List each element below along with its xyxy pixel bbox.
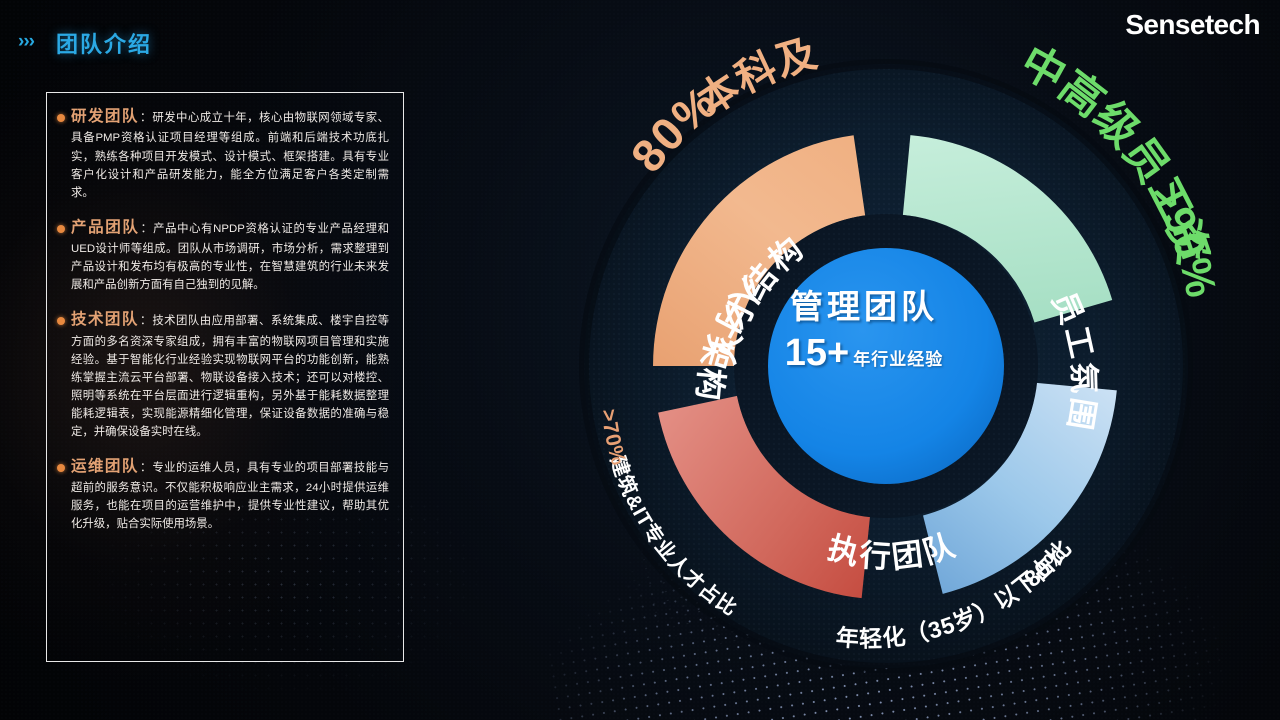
page-title: 团队介绍 bbox=[56, 27, 152, 59]
list-item-heading: 研发团队 bbox=[71, 108, 139, 125]
list-item: 研发团队：研发中心成立十年，核心由物联网领域专家、具备PMP资格认证项目经理等组… bbox=[57, 105, 389, 202]
bullet-dot-icon bbox=[57, 114, 65, 122]
brand-logo: Sensetech bbox=[1125, 9, 1260, 41]
team-donut-chart: 人才结构 员工氛围 执行团队 人才架构 80% 本科及以上 中高级员工资 >90… bbox=[508, 28, 1268, 708]
list-item-body: 研发团队：研发中心成立十年，核心由物联网领域专家、具备PMP资格认证项目经理等组… bbox=[71, 105, 389, 202]
list-item-body: 运维团队：专业的运维人员，具有专业的项目部署技能与超前的服务意识。不仅能积极响应… bbox=[71, 455, 389, 534]
list-item-heading: 产品团队 bbox=[71, 219, 140, 236]
list-item: 运维团队：专业的运维人员，具有专业的项目部署技能与超前的服务意识。不仅能积极响应… bbox=[57, 455, 389, 534]
list-item-separator: ： bbox=[140, 313, 152, 327]
list-item: 技术团队：技术团队由应用部署、系统集成、楼宇自控等方面的多名资深专家组成，拥有丰… bbox=[57, 308, 389, 441]
bullet-dot-icon bbox=[57, 225, 65, 233]
bullet-dot-icon bbox=[57, 317, 65, 325]
list-item-separator: ： bbox=[141, 221, 154, 235]
list-item-heading: 运维团队 bbox=[71, 458, 139, 475]
donut-center-circle[interactable] bbox=[768, 248, 1004, 484]
list-item-separator: ： bbox=[140, 460, 152, 474]
chevron-right-icon: ››› bbox=[18, 32, 34, 51]
page-header: ››› 团队介绍 Sensetech bbox=[0, 0, 1280, 64]
list-item-body: 产品团队：产品中心有NPDP资格认证的专业产品经理和UED设计师等组成。团队从市… bbox=[71, 216, 389, 295]
donut-svg: 人才结构 员工氛围 执行团队 人才架构 80% 本科及以上 中高级员工资 >90… bbox=[508, 28, 1268, 708]
list-item-body: 技术团队：技术团队由应用部署、系统集成、楼宇自控等方面的多名资深专家组成，拥有丰… bbox=[71, 308, 389, 441]
bullet-dot-icon bbox=[57, 464, 65, 472]
list-item-heading: 技术团队 bbox=[71, 311, 139, 328]
team-info-panel: 研发团队：研发中心成立十年，核心由物联网领域专家、具备PMP资格认证项目经理等组… bbox=[46, 92, 404, 662]
list-item: 产品团队：产品中心有NPDP资格认证的专业产品经理和UED设计师等组成。团队从市… bbox=[57, 216, 389, 295]
list-item-text: 技术团队由应用部署、系统集成、楼宇自控等方面的多名资深专家组成，拥有丰富的物联网… bbox=[71, 315, 389, 438]
list-item-separator: ： bbox=[140, 110, 152, 124]
